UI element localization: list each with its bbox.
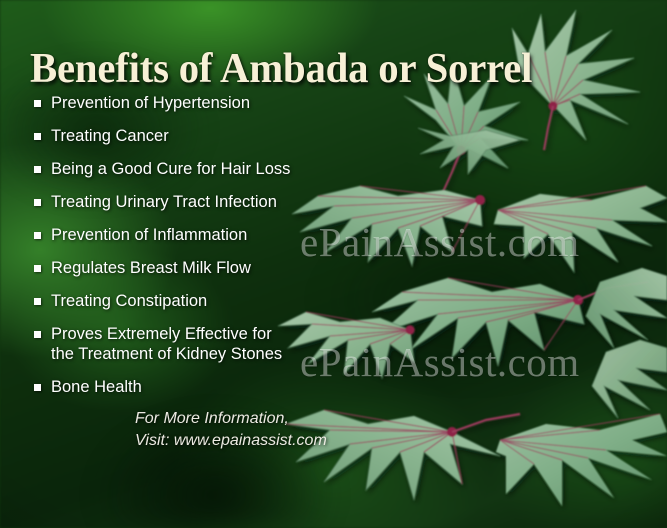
vignette-overlay bbox=[0, 0, 667, 528]
infographic-poster: ePainAssist.com ePainAssist.com Benefits… bbox=[0, 0, 667, 528]
